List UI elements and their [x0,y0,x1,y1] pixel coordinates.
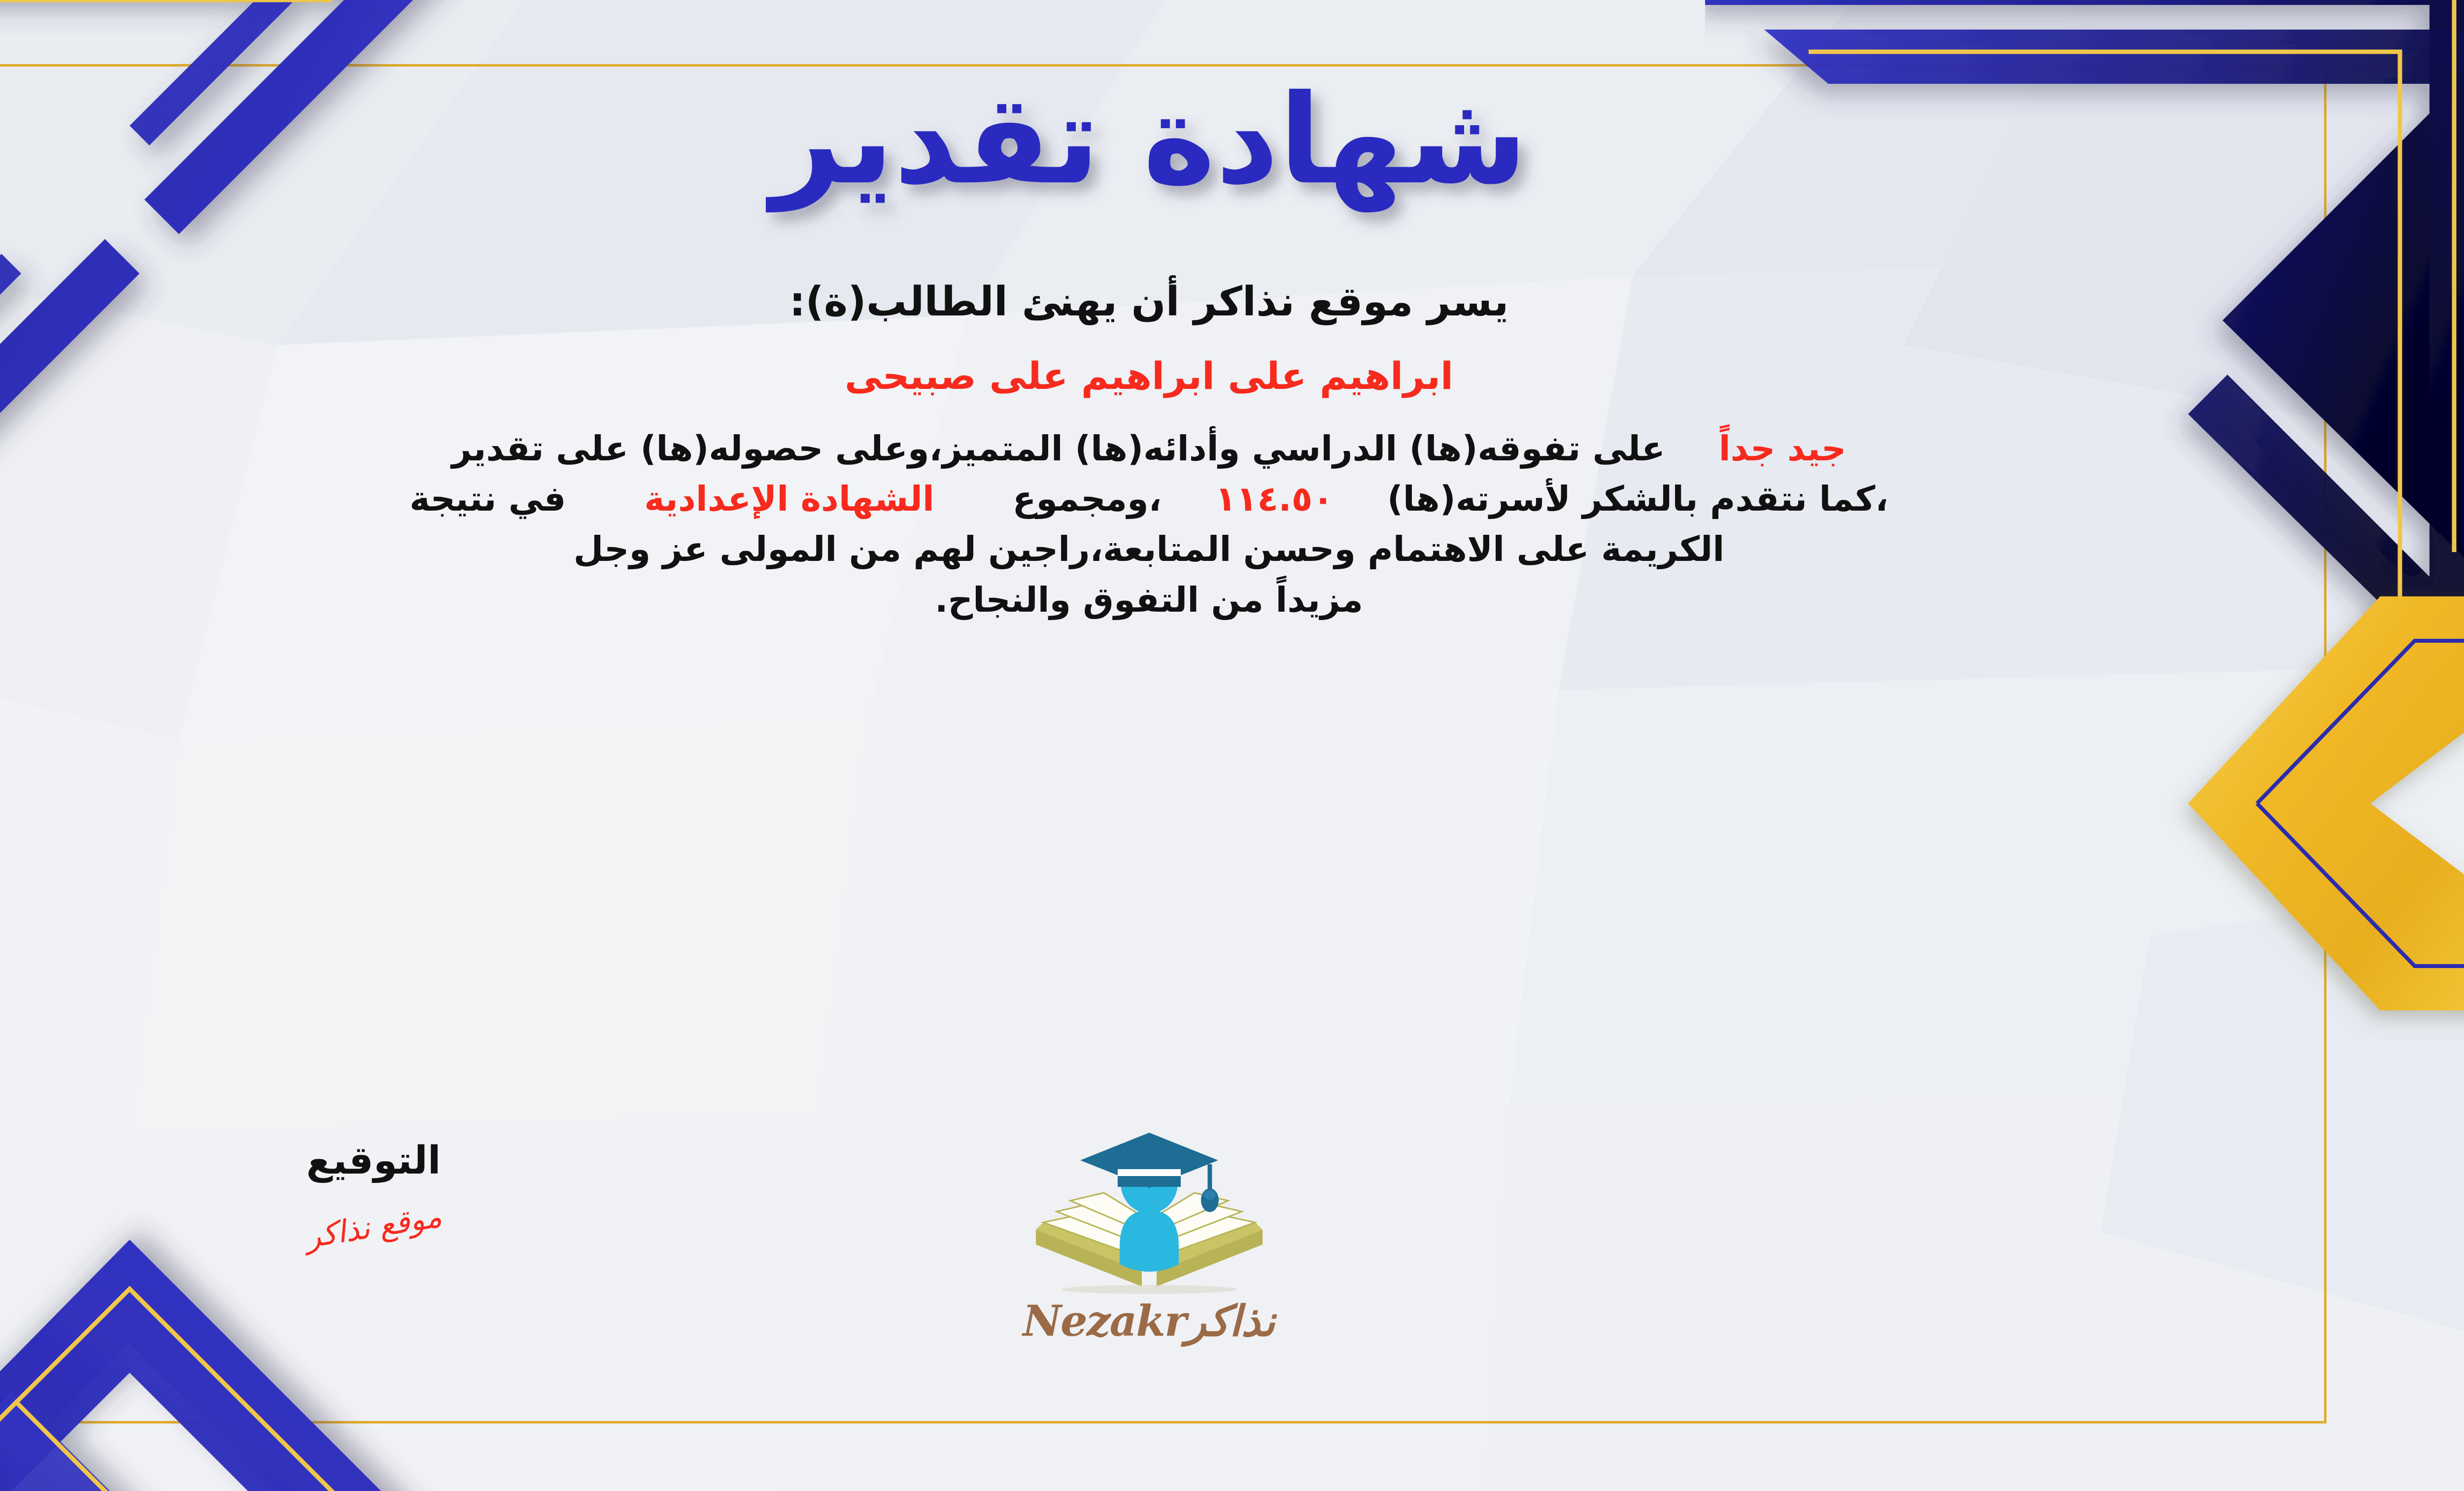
grade-value: جيد جداً [1719,428,1847,469]
student-name: ابراهيم على ابراهيم على صبيحى [845,354,1453,398]
body-line-3: الكريمة على الاهتمام وحسن المتابعة،راجين… [3,524,2295,574]
body-line-4: مزيداً من التفوق والنجاح. [3,575,2295,625]
graduate-book-icon [1021,1124,1277,1301]
body-line-2-head: في نتيجة [410,479,566,519]
signature-label: التوقيع [245,1139,502,1183]
total-score-value: ١١٤.٥٠ [1215,479,1334,519]
brand-logo-block: نذاكرNezakr [962,1124,1336,1346]
certificate-name-value: الشهادة الإعدادية [644,479,934,519]
certificate-title-wrap: شهادة تقدير [0,59,2464,222]
body-line-1: جيد جداً على تفوقه(ها) الدراسي وأدائه(ها… [3,423,2295,474]
signature-block: التوقيع موقع نذاكر [245,1139,502,1245]
brand-wordmark: نذاكرNezakr [962,1296,1336,1346]
certificate-body: جيد جداً على تفوقه(ها) الدراسي وأدائه(ها… [3,423,2295,625]
brand-wordmark-ar: نذاكر [1186,1296,1275,1346]
brand-wordmark-en: Nezakr [1023,1296,1186,1346]
body-line-2-tail: ،كما نتقدم بالشكر لأسرته(ها) [1387,479,1888,519]
certificate-page: شهادة تقدير يسر موقع نذاكر أن يهنئ الطال… [0,0,2464,1491]
page-title: شهادة تقدير [765,68,1527,213]
body-line-2-mid: ،ومجموع [1013,479,1162,519]
body-line-2: ،كما نتقدم بالشكر لأسرته(ها) ١١٤.٥٠ ،ومج… [3,474,2295,524]
greeting-line: يسر موقع نذاكر أن يهنئ الطالب(ة): [789,278,1509,325]
body-line-1-text: على تفوقه(ها) الدراسي وأدائه(ها) المتميز… [452,428,1665,469]
